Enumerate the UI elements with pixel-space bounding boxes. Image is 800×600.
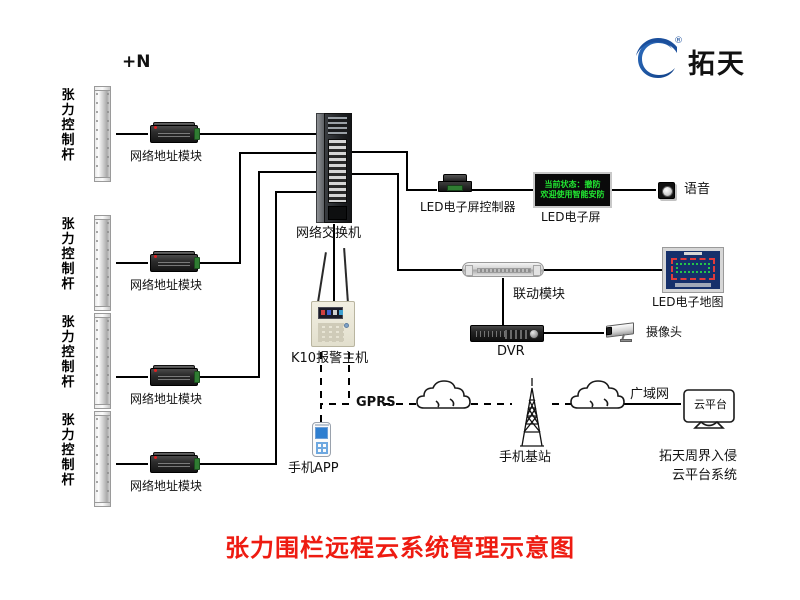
cloud-icon-right bbox=[571, 381, 624, 408]
mobile-app-label: 手机APP bbox=[288, 462, 339, 477]
network-address-module-label-1: 网络地址模块 bbox=[130, 150, 202, 163]
page-title: 张力围栏远程云系统管理示意图 bbox=[0, 528, 800, 563]
alarm-host-label: K10报警主机 bbox=[291, 352, 368, 367]
network-switch-label: 网络交换机 bbox=[296, 227, 361, 242]
led-map-label: LED电子地图 bbox=[652, 296, 724, 309]
rack-unit-icon bbox=[462, 262, 544, 277]
cloud-platform-screen-text: 云平台 bbox=[694, 399, 727, 411]
pole-label-char: 制 bbox=[60, 262, 76, 277]
brand-name: 拓天 bbox=[688, 42, 746, 81]
smartphone-icon bbox=[312, 422, 331, 457]
led-screen-label: LED电子屏 bbox=[541, 211, 601, 224]
cell-tower-icon bbox=[520, 378, 544, 446]
pole-label-char: 制 bbox=[60, 458, 76, 473]
dvr-icon bbox=[470, 325, 544, 342]
network-address-module-1 bbox=[150, 122, 198, 146]
voice-label: 语音 bbox=[684, 183, 710, 198]
pole-label-char: 杆 bbox=[60, 277, 76, 292]
pole-label-char: 力 bbox=[60, 232, 76, 247]
diagram-canvas: +N ® 拓天 张 力 控 制 杆 bbox=[0, 0, 800, 600]
pole-label-char: 力 bbox=[60, 330, 76, 345]
pole-label-char: 杆 bbox=[60, 375, 76, 390]
tension-pole-3 bbox=[94, 313, 111, 409]
cloud-platform-label-2: 云平台系统 bbox=[672, 469, 737, 484]
pole-label-char: 张 bbox=[60, 315, 76, 330]
brand-logo: ® 拓天 bbox=[636, 36, 768, 86]
pole-label-char: 张 bbox=[60, 413, 76, 428]
network-address-module-4 bbox=[150, 452, 198, 476]
cloud-platform-label: 拓天周界入侵 bbox=[659, 450, 737, 465]
led-map-icon bbox=[662, 247, 724, 293]
network-address-module-label-4: 网络地址模块 bbox=[130, 480, 202, 493]
tension-pole-2 bbox=[94, 215, 111, 311]
pole-label-char: 杆 bbox=[60, 473, 76, 488]
led-screen-line2: 欢迎使用智能安防 bbox=[538, 190, 607, 200]
pole-label-char: 控 bbox=[60, 118, 76, 133]
led-screen-icon: 当前状态：撤防 欢迎使用智能安防 bbox=[533, 172, 612, 208]
tension-pole-1 bbox=[94, 86, 111, 182]
network-address-module-3 bbox=[150, 365, 198, 389]
alarm-panel-icon bbox=[311, 301, 355, 347]
network-address-module-2 bbox=[150, 251, 198, 275]
registered-mark: ® bbox=[674, 36, 683, 46]
tension-pole-4 bbox=[94, 411, 111, 507]
cloud-icon-left bbox=[417, 381, 470, 408]
plus-n-label: +N bbox=[122, 53, 150, 72]
pole-label-char: 制 bbox=[60, 360, 76, 375]
led-screen-line1: 当前状态：撤防 bbox=[538, 180, 607, 190]
speaker-icon bbox=[658, 182, 675, 199]
tension-pole-label-4: 张 力 控 制 杆 bbox=[60, 413, 76, 488]
pole-label-char: 控 bbox=[60, 247, 76, 262]
network-address-module-label-2: 网络地址模块 bbox=[130, 279, 202, 292]
tension-pole-label-3: 张 力 控 制 杆 bbox=[60, 315, 76, 390]
gprs-link-label: GPRS bbox=[356, 396, 396, 411]
camera-label: 摄像头 bbox=[646, 326, 682, 339]
camera-icon bbox=[606, 323, 640, 343]
dvr-label: DVR bbox=[497, 345, 525, 360]
pole-label-char: 制 bbox=[60, 133, 76, 148]
tension-pole-label-1: 张 力 控 制 杆 bbox=[60, 88, 76, 163]
network-address-module-label-3: 网络地址模块 bbox=[130, 393, 202, 406]
pole-label-char: 杆 bbox=[60, 148, 76, 163]
pole-label-char: 控 bbox=[60, 345, 76, 360]
tension-pole-label-2: 张 力 控 制 杆 bbox=[60, 217, 76, 292]
led-controller-icon bbox=[438, 174, 472, 192]
pole-label-char: 控 bbox=[60, 443, 76, 458]
led-controller-label: LED电子屏控制器 bbox=[420, 201, 516, 214]
pole-label-char: 力 bbox=[60, 103, 76, 118]
pole-label-char: 张 bbox=[60, 217, 76, 232]
pole-label-char: 力 bbox=[60, 428, 76, 443]
base-station-label: 手机基站 bbox=[499, 451, 551, 466]
wan-link-label: 广域网 bbox=[630, 388, 669, 403]
linkage-module-label: 联动模块 bbox=[513, 288, 565, 303]
network-switch-icon bbox=[316, 113, 352, 223]
pole-label-char: 张 bbox=[60, 88, 76, 103]
